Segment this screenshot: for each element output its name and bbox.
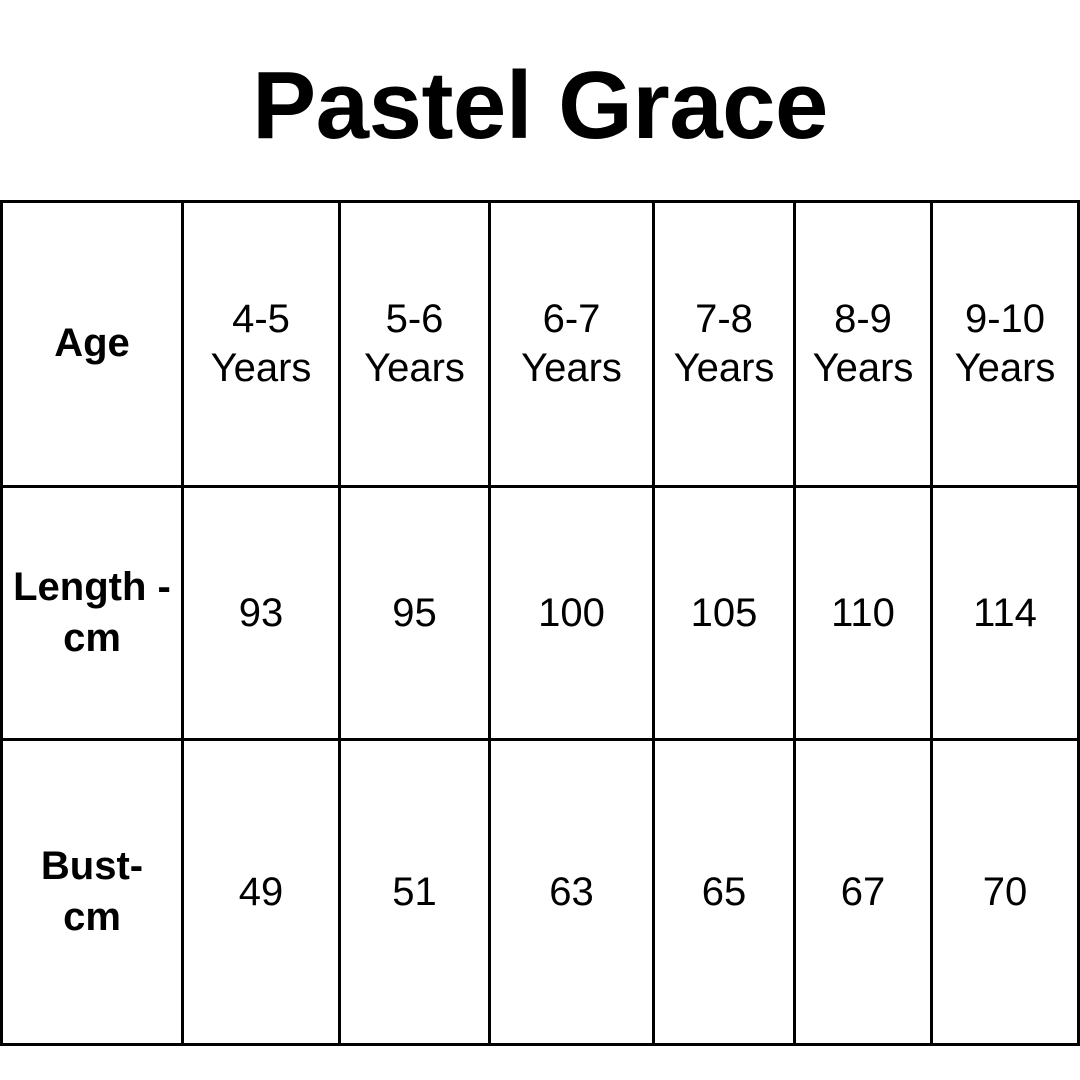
header-cell-age-3: 6-7 Years: [490, 202, 654, 487]
header-cell-age-1: 4-5 Years: [183, 202, 340, 487]
row-label-length: Length -cm: [2, 487, 183, 740]
age-unit: Years: [188, 344, 334, 393]
table-row-length: Length -cm 93 95 100 105 110 114: [2, 487, 1079, 740]
age-unit: Years: [345, 344, 484, 393]
table-row-bust: Bust- cm 49 51 63 65 67 70: [2, 740, 1079, 1045]
age-range: 5-6: [345, 295, 484, 344]
page-title: Pastel Grace: [0, 56, 1080, 157]
age-range: 4-5: [188, 295, 334, 344]
cell-length-1: 93: [183, 487, 340, 740]
age-unit: Years: [937, 344, 1073, 393]
cell-length-2: 95: [340, 487, 490, 740]
row-label-line-1: Bust-: [41, 844, 143, 888]
age-range: 8-9: [800, 295, 926, 344]
header-cell-age-2: 5-6 Years: [340, 202, 490, 487]
cell-length-4: 105: [654, 487, 795, 740]
age-unit: Years: [659, 344, 789, 393]
row-label-line-1: Length: [13, 565, 146, 609]
cell-length-3: 100: [490, 487, 654, 740]
size-chart-page: Pastel Grace Age 4-5 Years 5-6 Years: [0, 0, 1080, 1080]
cell-bust-2: 51: [340, 740, 490, 1045]
cell-bust-4: 65: [654, 740, 795, 1045]
cell-bust-5: 67: [795, 740, 932, 1045]
row-label-age: Age: [2, 202, 183, 487]
header-cell-age-5: 8-9 Years: [795, 202, 932, 487]
header-cell-age-4: 7-8 Years: [654, 202, 795, 487]
table-row-age-header: Age 4-5 Years 5-6 Years 6-7 Years 7-8 Ye…: [2, 202, 1079, 487]
row-label-bust: Bust- cm: [2, 740, 183, 1045]
cell-bust-3: 63: [490, 740, 654, 1045]
age-range: 7-8: [659, 295, 789, 344]
header-cell-age-6: 9-10 Years: [932, 202, 1079, 487]
cell-length-6: 114: [932, 487, 1079, 740]
cell-bust-1: 49: [183, 740, 340, 1045]
age-range: 9-10: [937, 295, 1073, 344]
age-unit: Years: [800, 344, 926, 393]
row-label-line-2: cm: [63, 895, 121, 939]
size-chart-table: Age 4-5 Years 5-6 Years 6-7 Years 7-8 Ye…: [0, 200, 1080, 1046]
age-unit: Years: [495, 344, 648, 393]
cell-bust-6: 70: [932, 740, 1079, 1045]
age-range: 6-7: [495, 295, 648, 344]
cell-length-5: 110: [795, 487, 932, 740]
